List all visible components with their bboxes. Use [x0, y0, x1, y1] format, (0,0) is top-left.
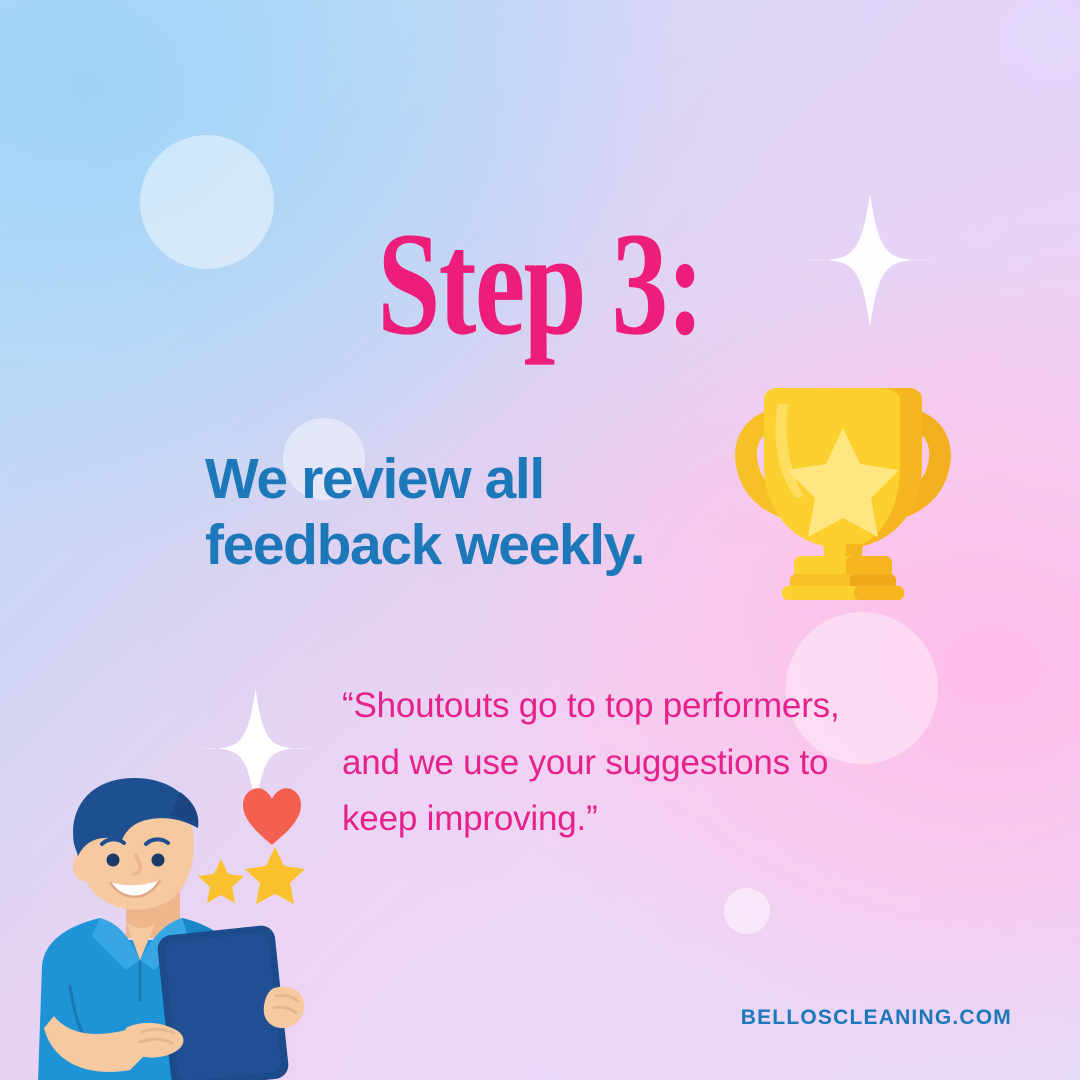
quote-line-3: keep improving.” [342, 791, 942, 848]
person-with-tablet-illustration [30, 770, 360, 1080]
quote-text: “Shoutouts go to top performers, and we … [342, 678, 942, 848]
page-title: Step 3: [76, 210, 1005, 358]
footer-website-url: BELLOSCLEANING.COM [741, 1006, 1012, 1030]
soft-circle-small [724, 888, 770, 934]
quote-line-1: “Shoutouts go to top performers, [342, 678, 942, 735]
trophy-icon [718, 386, 968, 602]
social-post-canvas: Step 3: We review all feedback weekly. “… [0, 0, 1080, 1080]
quote-line-2: and we use your suggestions to [342, 735, 942, 792]
